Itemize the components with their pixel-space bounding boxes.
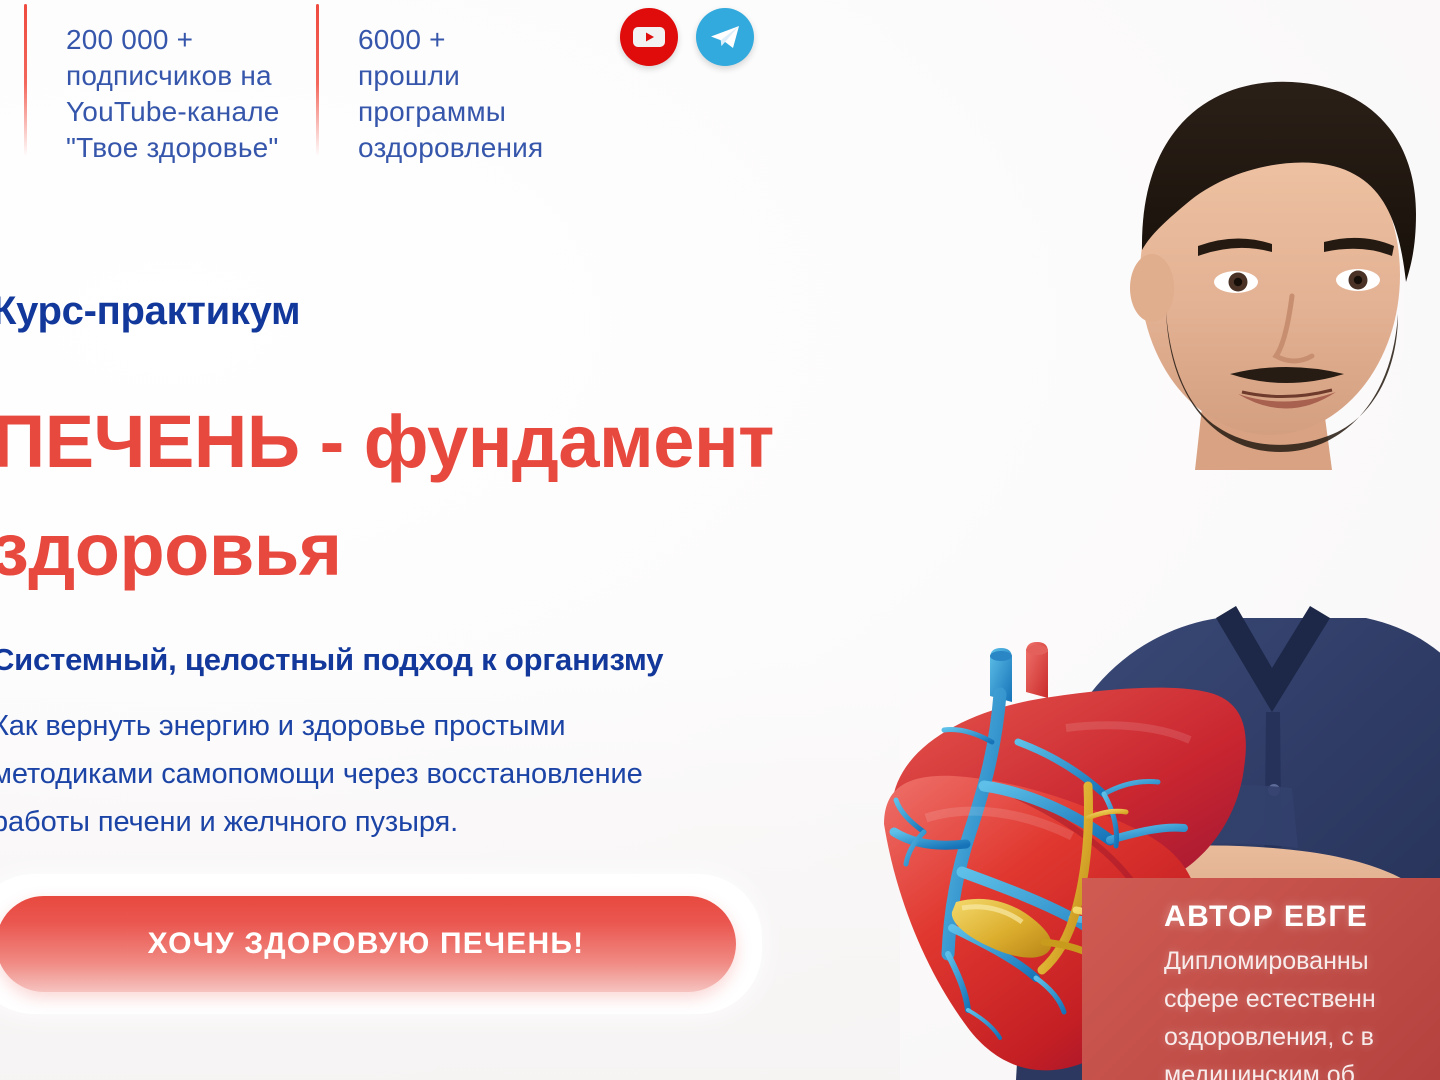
stat-number: 6000 + [358, 22, 566, 58]
want-healthy-liver-button[interactable]: ХОЧУ ЗДОРОВУЮ ПЕЧЕНЬ! [0, 896, 736, 992]
hero-copy-block: Курс-практикум ПЕЧЕНЬ - фундамент здоров… [0, 286, 892, 846]
stat-item-graduates: 6000 + прошли программы оздоровления [316, 0, 566, 166]
author-info-card: АВТОР ЕВГЕ Дипломированны сфере естестве… [1082, 878, 1440, 1080]
stats-bar: 200 000 + подписчиков на YouTube-канале … [24, 0, 566, 180]
stat-label: прошли программы оздоровления [358, 58, 566, 166]
stat-number: 200 000 + [66, 22, 316, 58]
stat-divider-line [316, 4, 319, 156]
stat-item-subscribers: 200 000 + подписчиков на YouTube-канале … [24, 0, 316, 166]
youtube-icon [632, 25, 666, 49]
telegram-link[interactable] [696, 8, 754, 66]
author-card-description: Дипломированны сфере естественн оздоровл… [1164, 942, 1440, 1080]
author-card-title: АВТОР ЕВГЕ [1164, 898, 1440, 936]
social-links [620, 8, 754, 66]
stat-divider-line [24, 4, 27, 156]
telegram-icon [709, 23, 741, 51]
hero-description: Как вернуть энергию и здоровье простыми … [0, 702, 892, 846]
stat-label: подписчиков на YouTube-канале "Твое здор… [66, 58, 316, 166]
course-kicker: Курс-практикум [0, 286, 892, 336]
cta-button-halo: ХОЧУ ЗДОРОВУЮ ПЕЧЕНЬ! [0, 874, 762, 1014]
youtube-link[interactable] [620, 8, 678, 66]
page-title: ПЕЧЕНЬ - фундамент здоровья [0, 388, 892, 604]
landing-page-hero: 200 000 + подписчиков на YouTube-канале … [0, 0, 1440, 1080]
hero-subtitle: Системный, целостный подход к организму [0, 640, 892, 680]
